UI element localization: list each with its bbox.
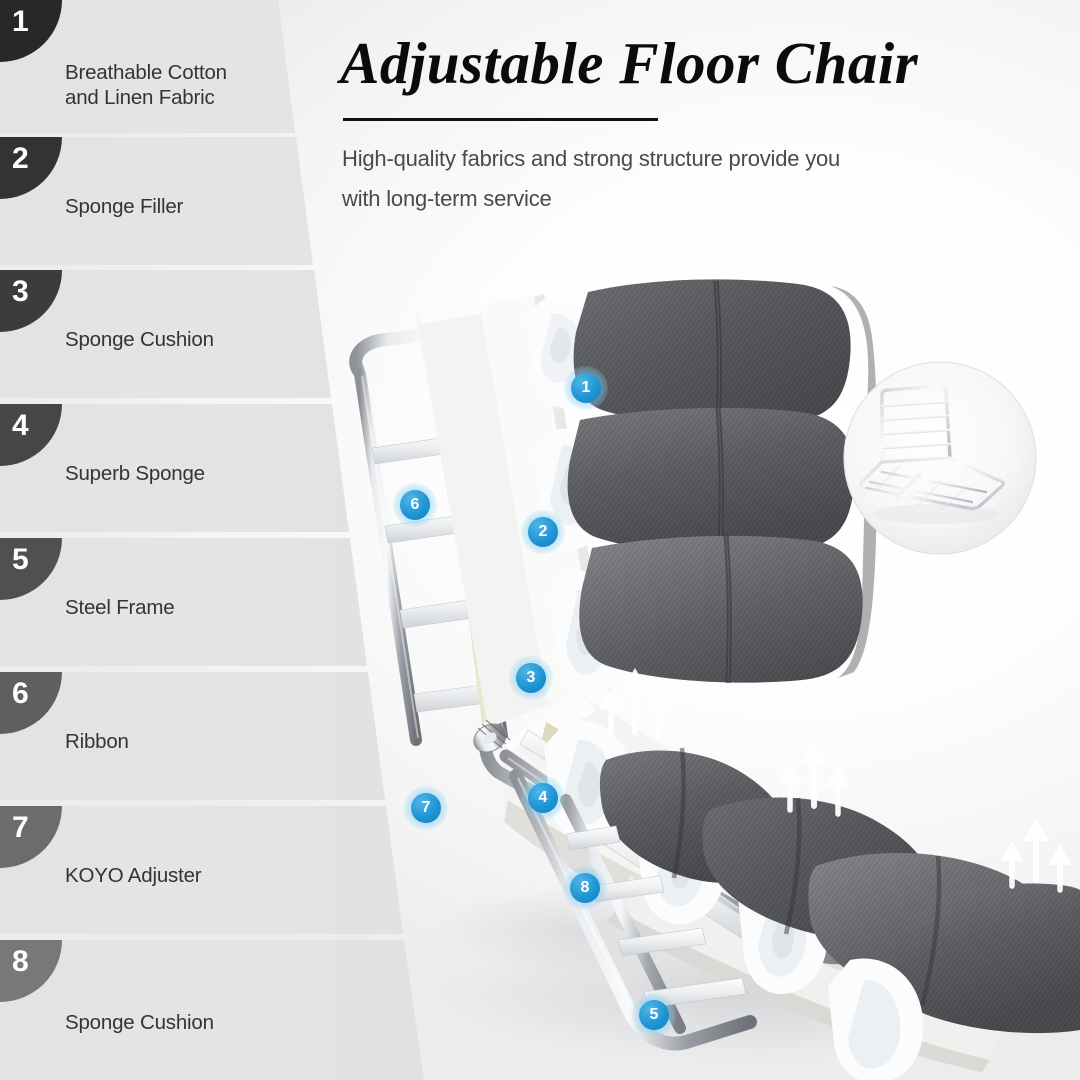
infographic-canvas: 1Breathable Cotton and Linen Fabric2Spon… xyxy=(0,0,1080,1080)
callout-marker-4: 4 xyxy=(528,783,558,813)
callout-marker-6: 6 xyxy=(400,490,430,520)
page-title: Adjustable Floor Chair xyxy=(340,34,1040,93)
callout-marker-1: 1 xyxy=(571,373,601,403)
callout-number: 8 xyxy=(581,879,590,897)
header-block: Adjustable Floor Chair High-quality fabr… xyxy=(340,34,1040,219)
feature-label-2: Sponge Filler xyxy=(65,194,183,219)
callout-number: 4 xyxy=(539,789,548,807)
callout-marker-3: 3 xyxy=(516,663,546,693)
subtitle-text: High-quality fabrics and strong structur… xyxy=(342,139,982,219)
title-divider xyxy=(343,118,658,121)
feature-label-8: Sponge Cushion xyxy=(65,1010,214,1035)
callout-number: 5 xyxy=(650,1006,659,1024)
callout-marker-5: 5 xyxy=(639,1000,669,1030)
callout-marker-2: 2 xyxy=(528,517,558,547)
feature-label-7: KOYO Adjuster xyxy=(65,863,201,888)
callout-number: 2 xyxy=(539,523,548,541)
feature-label-3: Sponge Cushion xyxy=(65,327,214,352)
callout-number: 3 xyxy=(527,669,536,687)
backrest-fabric-cushions xyxy=(568,279,877,683)
steel-frame-inset-photo xyxy=(840,358,1040,558)
callout-marker-8: 8 xyxy=(570,873,600,903)
callout-number: 7 xyxy=(422,799,431,817)
feature-label-1: Breathable Cotton and Linen Fabric xyxy=(65,60,227,110)
callout-number: 1 xyxy=(582,379,591,397)
feature-label-6: Ribbon xyxy=(65,729,129,754)
callout-number: 6 xyxy=(411,496,420,514)
callout-marker-7: 7 xyxy=(411,793,441,823)
feature-label-4: Superb Sponge xyxy=(65,461,205,486)
feature-label-5: Steel Frame xyxy=(65,595,174,620)
